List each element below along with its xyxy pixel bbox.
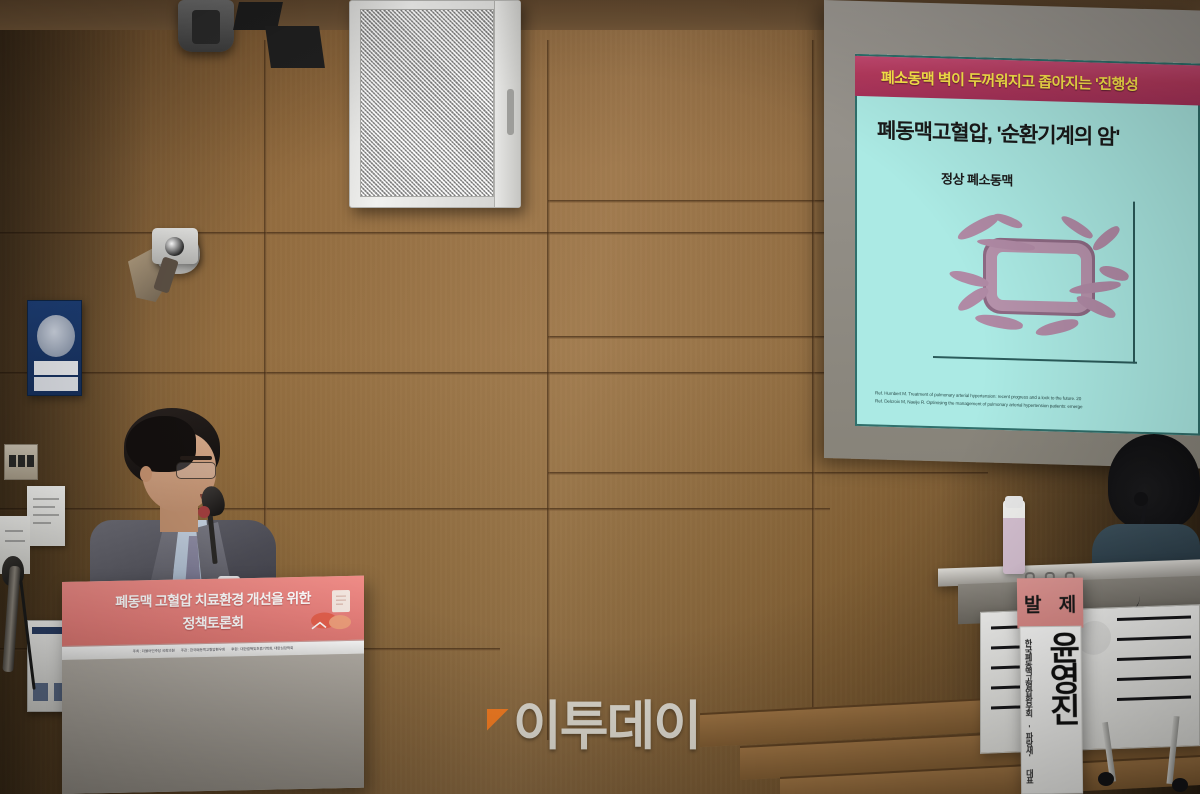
placard-affiliation: 한국폐동맥고혈압환우회 '파랑새' 대표 <box>1024 639 1034 793</box>
vessel-lumen <box>997 252 1081 302</box>
wall-seam-v3 <box>812 40 815 740</box>
water-bottle-cap[interactable] <box>1005 496 1023 508</box>
ear <box>140 466 152 482</box>
projection-screen: 폐동맥고혈압, '순환기계의 암' 정상 폐소동맥 <box>824 0 1200 469</box>
light-switch-panel[interactable] <box>4 444 38 480</box>
wifi-sign-text-row-2 <box>34 377 78 391</box>
chair-wheel-2 <box>1172 778 1188 792</box>
microphone-windscreen <box>198 506 210 518</box>
placard-role-label: 발 제 <box>1018 589 1083 617</box>
security-camera <box>152 228 198 264</box>
eyeglasses-icon <box>176 462 216 479</box>
watermark: 이투데이 <box>487 700 700 753</box>
speaker-grille <box>360 9 494 197</box>
podium-banner-line-1: 폐동맥 고혈압 치료환경 개선을 위한 <box>115 587 310 611</box>
water-bottle[interactable] <box>1003 500 1025 574</box>
figure-border-bottom <box>933 356 1137 364</box>
podium-banner: 폐동맥 고혈압 치료환경 개선을 위한 정책토론회 <box>62 576 364 646</box>
light-switch-3[interactable] <box>27 455 34 467</box>
podium-graphic-icon <box>306 588 358 633</box>
slide-title: 폐동맥고혈압, '순환기계의 암' <box>877 114 1119 151</box>
wall-seam-h7 <box>548 472 988 475</box>
slide-content-area: 폐동맥고혈압, '순환기계의 암' 정상 폐소동맥 <box>855 96 1200 436</box>
speaker-handle <box>507 89 514 135</box>
slide-figure-caption: 정상 폐소동맥 <box>941 168 1013 189</box>
sponsor-text-2: 주관 : 한국폐동맥고혈압환우회 <box>181 648 225 654</box>
pulmonary-arteriole-section <box>949 218 1125 341</box>
placard-body: 한국폐동맥고혈압환우회 '파랑새' 대표 윤영진 <box>1019 626 1083 794</box>
wall-seam-v2 <box>547 40 550 740</box>
podium-body <box>62 654 364 794</box>
histology-figure <box>927 192 1157 366</box>
wifi-icon <box>37 315 75 357</box>
podium: 폐동맥 고혈압 치료환경 개선을 위한 정책토론회 주최 : 더불어민주당 국회… <box>62 576 364 794</box>
eyebrow <box>180 456 212 460</box>
podium-banner-line-2: 정책토론회 <box>183 612 244 633</box>
camera-lens-icon <box>165 237 184 256</box>
chair-wheel-1 <box>1098 772 1114 786</box>
table-microphone-head <box>1134 492 1148 506</box>
watermark-triangle-icon <box>487 709 509 731</box>
wall-notice-a <box>27 486 65 546</box>
wifi-sign-text-row-1 <box>34 361 78 375</box>
light-switch-1[interactable] <box>9 455 16 467</box>
sponsor-text-3: 후원 : 대한결핵및호흡기학회, 대한심장학회 <box>231 646 293 652</box>
light-switch-2[interactable] <box>18 455 25 467</box>
wifi-sign <box>27 300 82 396</box>
figure-border-right <box>1133 202 1135 364</box>
sponsor-text-1: 주최 : 더불어민주당 국회의원 <box>133 649 175 655</box>
name-placard: 발 제 한국폐동맥고혈압환우회 '파랑새' 대표 윤영진 <box>1017 578 1085 794</box>
background-name-board <box>980 604 1200 754</box>
placard-role: 발 제 <box>1017 578 1084 629</box>
slide-banner-text: 폐소동맥 벽이 두꺼워지고 좁아지는 '진행성 <box>855 65 1138 94</box>
placard-name: 윤영진 <box>1046 631 1078 793</box>
watermark-text: 이투데이 <box>513 700 700 753</box>
chair-backrest <box>1108 434 1200 530</box>
ceiling-light-fixture <box>178 0 234 52</box>
press-photo-scene: 폐동맥고혈압, '순환기계의 암' 정상 폐소동맥 <box>0 0 1200 794</box>
wall-speaker <box>349 0 521 208</box>
ceiling-bracket-b <box>265 26 325 68</box>
